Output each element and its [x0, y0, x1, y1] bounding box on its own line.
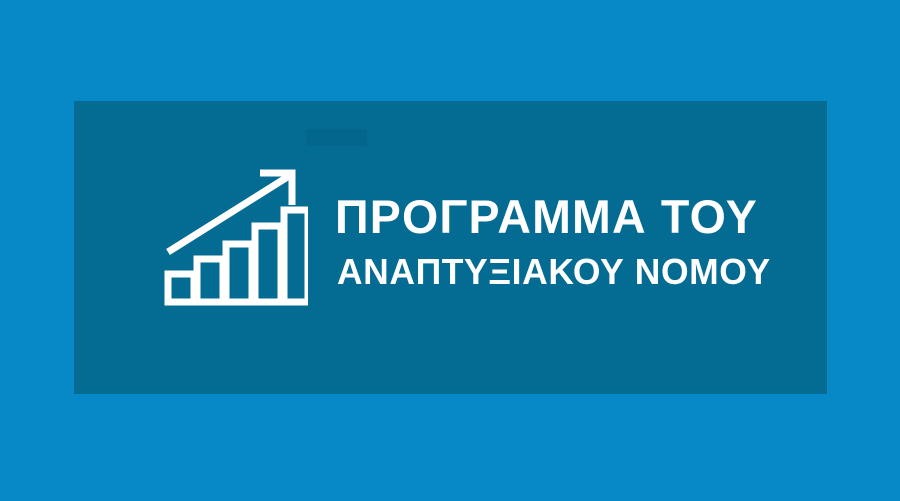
- banner-panel: ΠΡΟΓΡΑΜΜΑ ΤΟΥ ΑΝΑΠΤΥΞΙΑΚΟΥ ΝΟΜΟΥ: [74, 101, 827, 394]
- headline-block: ΠΡΟΓΡΑΜΜΑ ΤΟΥ ΑΝΑΠΤΥΞΙΑΚΟΥ ΝΟΜΟΥ: [335, 193, 805, 290]
- headline-line-1: ΠΡΟΓΡΑΜΜΑ ΤΟΥ: [335, 193, 800, 240]
- banner-root: ΠΡΟΓΡΑΜΜΑ ΤΟΥ ΑΝΑΠΤΥΞΙΑΚΟΥ ΝΟΜΟΥ: [0, 0, 900, 501]
- growth-bar-chart-arrow-icon: [162, 161, 308, 311]
- headline-line-2: ΑΝΑΠΤΥΞΙΑΚΟΥ ΝΟΜΟΥ: [335, 254, 798, 290]
- watermark-artifact: [306, 129, 367, 146]
